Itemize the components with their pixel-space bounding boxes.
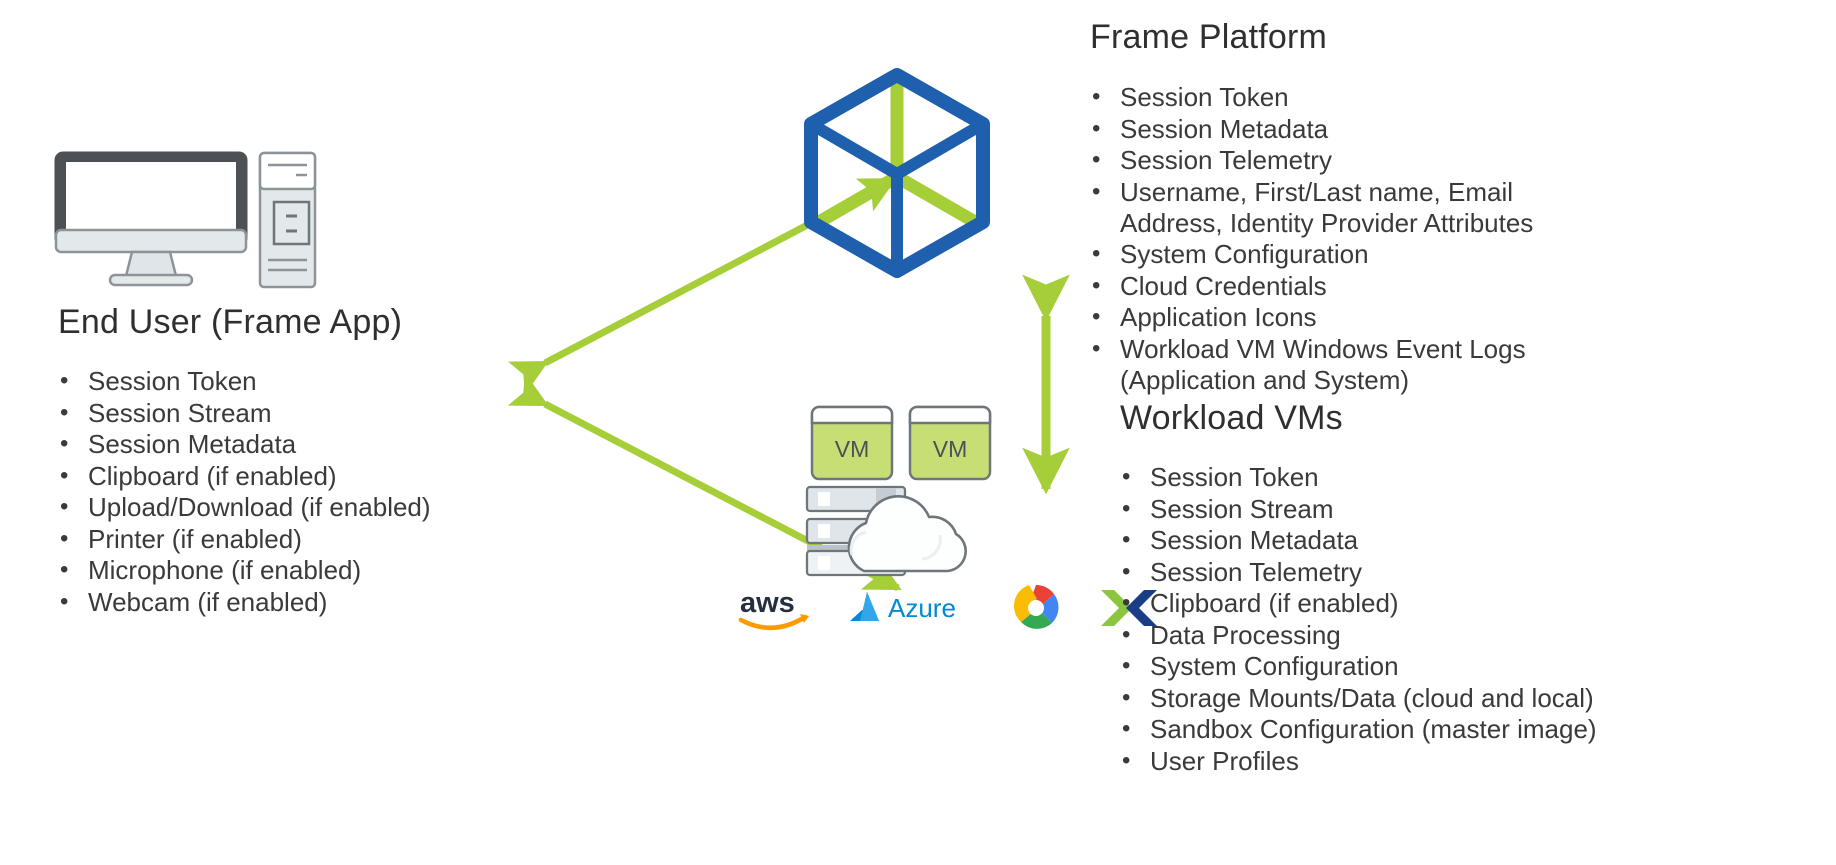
desktop-computer-icon bbox=[52, 150, 318, 295]
list-item: Session Metadata bbox=[54, 429, 574, 460]
list-item: System Configuration bbox=[1116, 651, 1696, 682]
aws-logo-icon: aws bbox=[738, 584, 812, 632]
list-item: Session Metadata bbox=[1116, 525, 1696, 556]
diagram-canvas: End User (Frame App) Session Token Sessi… bbox=[0, 0, 1836, 865]
list-item: User Profiles bbox=[1116, 746, 1696, 777]
frame-platform-bullet-list: Session Token Session Metadata Session T… bbox=[1086, 82, 1646, 396]
list-item: Webcam (if enabled) bbox=[54, 587, 574, 618]
list-item: Session Metadata bbox=[1086, 114, 1646, 145]
frame-cube-logo-icon bbox=[802, 68, 992, 291]
list-item: Session Token bbox=[54, 366, 574, 397]
frame-platform-heading: Frame Platform bbox=[1090, 18, 1327, 57]
end-user-heading: End User (Frame App) bbox=[58, 303, 402, 342]
list-item: Session Telemetry bbox=[1086, 145, 1646, 176]
vm-box-left: VM bbox=[812, 407, 892, 479]
list-item: Session Token bbox=[1086, 82, 1646, 113]
azure-logo-icon: Azure bbox=[846, 584, 974, 632]
list-item: Printer (if enabled) bbox=[54, 524, 574, 555]
svg-text:VM: VM bbox=[933, 436, 968, 462]
list-item: Sandbox Configuration (master image) bbox=[1116, 714, 1696, 745]
svg-text:aws: aws bbox=[740, 587, 795, 619]
list-item: System Configuration bbox=[1086, 239, 1646, 270]
svg-text:Azure: Azure bbox=[888, 593, 956, 623]
list-item: Microphone (if enabled) bbox=[54, 555, 574, 586]
workload-vms-bullet-list: Session Token Session Stream Session Met… bbox=[1116, 462, 1696, 777]
list-item: Clipboard (if enabled) bbox=[1116, 588, 1696, 619]
list-item: Upload/Download (if enabled) bbox=[54, 492, 574, 523]
svg-text:VM: VM bbox=[835, 436, 870, 462]
list-item: Storage Mounts/Data (cloud and local) bbox=[1116, 683, 1696, 714]
end-user-bullet-list: Session Token Session Stream Session Met… bbox=[54, 366, 574, 618]
google-cloud-logo-icon bbox=[1008, 582, 1064, 634]
workload-vms-heading: Workload VMs bbox=[1120, 399, 1343, 438]
list-item: Clipboard (if enabled) bbox=[54, 461, 574, 492]
list-item: Session Telemetry bbox=[1116, 557, 1696, 588]
list-item: Username, First/Last name, Email Address… bbox=[1086, 177, 1646, 239]
vm-box-right: VM bbox=[910, 407, 990, 479]
list-item: Data Processing bbox=[1116, 620, 1696, 651]
workload-vm-boxes: VM VM bbox=[810, 405, 1000, 490]
list-item: Session Stream bbox=[1116, 494, 1696, 525]
list-item: Workload VM Windows Event Logs (Applicat… bbox=[1086, 334, 1646, 396]
list-item: Session Token bbox=[1116, 462, 1696, 493]
cloud-provider-logo-row: aws Azure bbox=[738, 582, 1160, 634]
cloud-servers-icon bbox=[802, 483, 1002, 588]
list-item: Cloud Credentials bbox=[1086, 271, 1646, 302]
list-item: Application Icons bbox=[1086, 302, 1646, 333]
list-item: Session Stream bbox=[54, 398, 574, 429]
